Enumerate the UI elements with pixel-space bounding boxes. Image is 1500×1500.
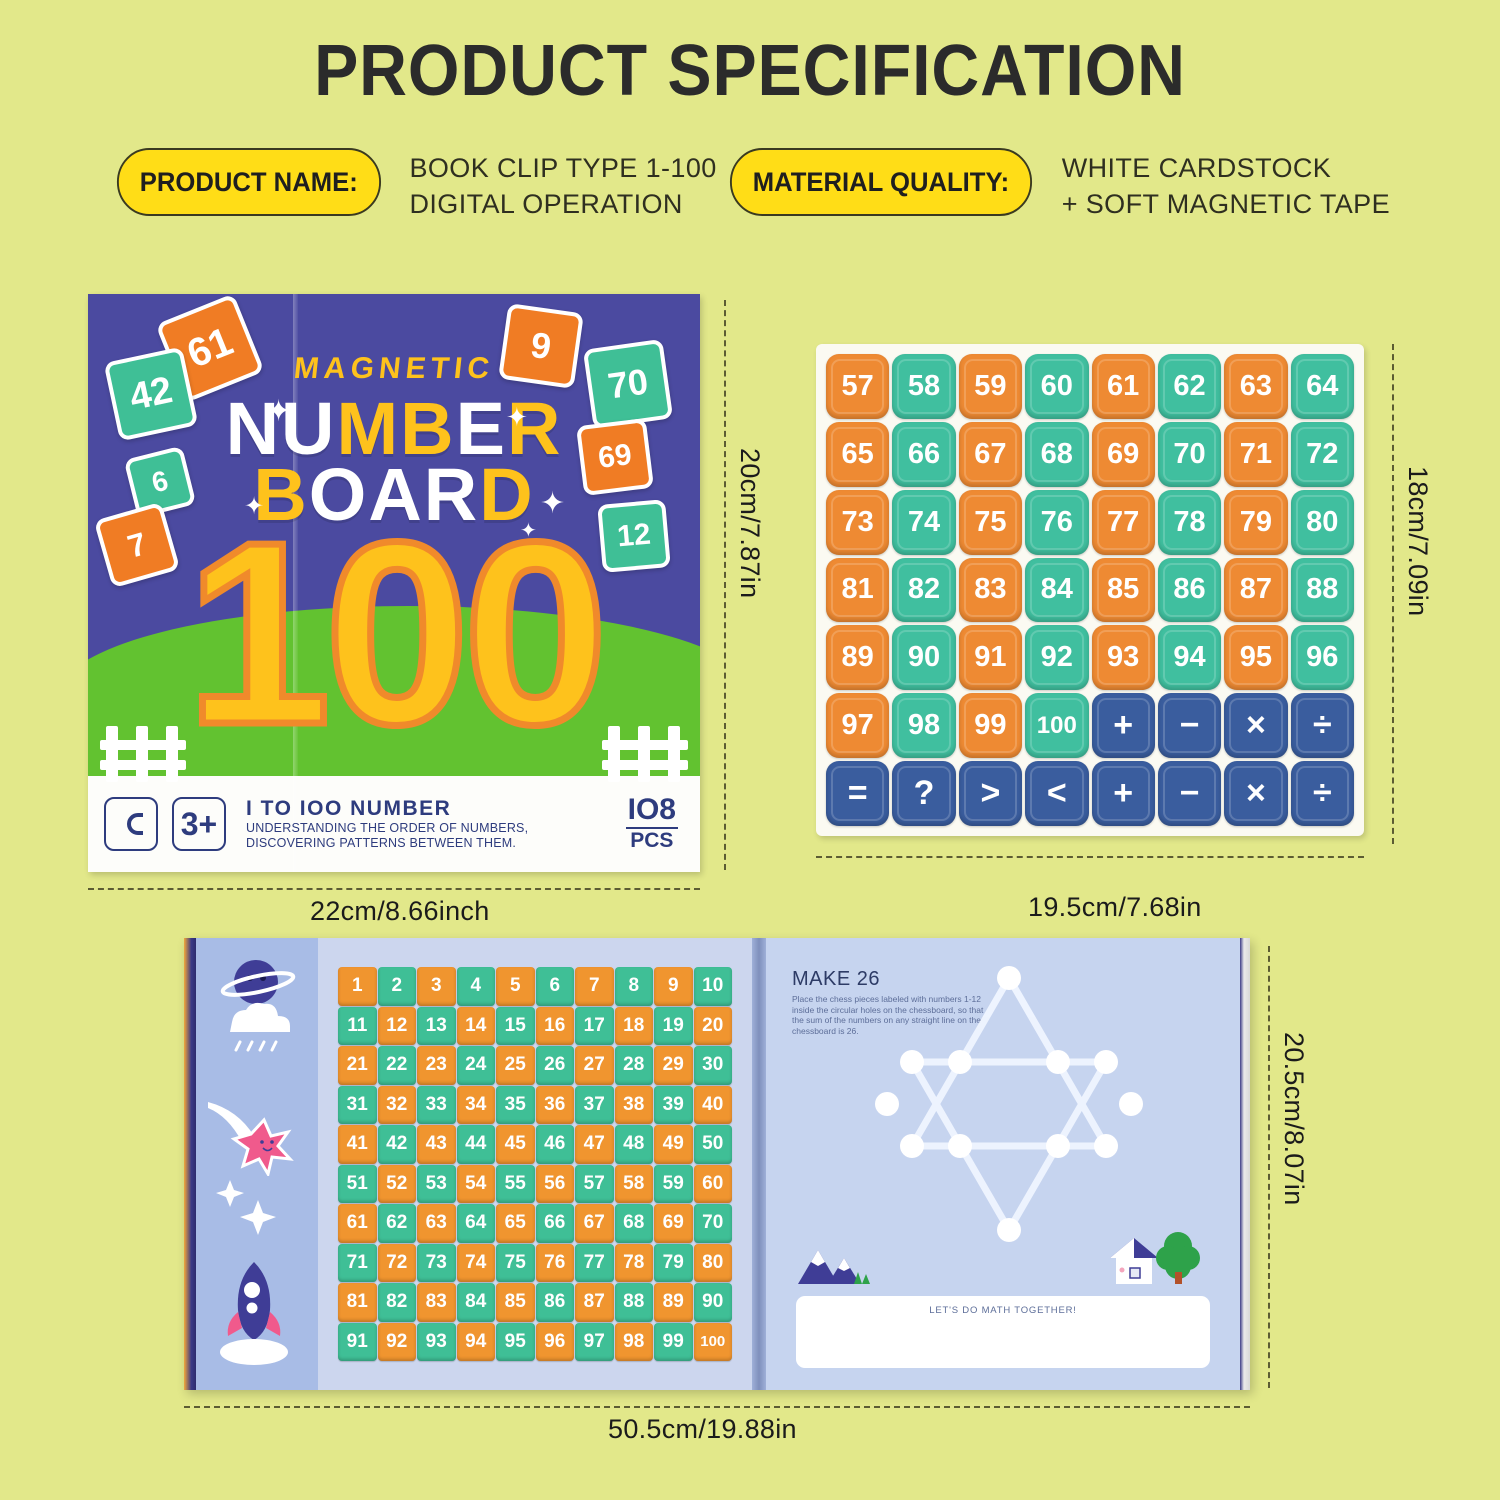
grid-tile-13[interactable]: 13 — [417, 1007, 456, 1046]
dim-guide-board-bottom — [816, 856, 1364, 858]
grid-tile-22[interactable]: 22 — [378, 1046, 417, 1085]
grid-tile-45[interactable]: 45 — [496, 1125, 535, 1164]
grid-tile-86[interactable]: 86 — [536, 1283, 575, 1322]
board-tile-÷[interactable]: ÷ — [1291, 761, 1354, 826]
grid-tile-78[interactable]: 78 — [615, 1244, 654, 1283]
board-tile-×[interactable]: × — [1224, 693, 1287, 758]
material-line1: WHITE CARDSTOCK — [1062, 150, 1390, 186]
grid-tile-3[interactable]: 3 — [417, 967, 456, 1006]
grid-tile-99[interactable]: 99 — [654, 1323, 693, 1362]
grid-tile-42[interactable]: 42 — [378, 1125, 417, 1164]
cover-tile-70: 70 — [583, 339, 673, 429]
product-name-line1: BOOK CLIP TYPE 1-100 — [410, 150, 717, 186]
board-tile-66[interactable]: 66 — [892, 422, 955, 487]
box-height-label: 20cm/7.87in — [734, 448, 765, 598]
board-tile-97[interactable]: 97 — [826, 693, 889, 758]
grid-tile-73[interactable]: 73 — [417, 1244, 456, 1283]
grid-tile-82[interactable]: 82 — [378, 1283, 417, 1322]
grid-tile-23[interactable]: 23 — [417, 1046, 456, 1085]
book-spine — [184, 938, 196, 1390]
board-tile-73[interactable]: 73 — [826, 490, 889, 555]
grid-tile-21[interactable]: 21 — [338, 1046, 377, 1085]
grid-tile-32[interactable]: 32 — [378, 1086, 417, 1125]
grid-tile-49[interactable]: 49 — [654, 1125, 693, 1164]
board-tile-+[interactable]: + — [1092, 693, 1155, 758]
grid-tile-15[interactable]: 15 — [496, 1007, 535, 1046]
board-tile-69[interactable]: 69 — [1092, 422, 1155, 487]
grid-tile-8[interactable]: 8 — [615, 967, 654, 1006]
grid-tile-85[interactable]: 85 — [496, 1283, 535, 1322]
grid-tile-17[interactable]: 17 — [575, 1007, 614, 1046]
grid-tile-16[interactable]: 16 — [536, 1007, 575, 1046]
board-tile-85[interactable]: 85 — [1092, 558, 1155, 623]
dim-guide-box-bottom — [88, 888, 700, 890]
star-icon — [214, 1176, 284, 1236]
board-tile-70[interactable]: 70 — [1158, 422, 1221, 487]
grid-tile-26[interactable]: 26 — [536, 1046, 575, 1085]
spec-material-quality: MATERIAL QUALITY: WHITE CARDSTOCK + SOFT… — [722, 148, 1390, 222]
grid-tile-7[interactable]: 7 — [575, 967, 614, 1006]
cover-tile-69: 69 — [576, 418, 654, 496]
board-tile-−[interactable]: − — [1158, 761, 1221, 826]
grid-tile-9[interactable]: 9 — [654, 967, 693, 1006]
material-quality-pill: MATERIAL QUALITY: — [730, 148, 1032, 216]
board-tile-95[interactable]: 95 — [1224, 625, 1287, 690]
grid-tile-69[interactable]: 69 — [654, 1204, 693, 1243]
grid-tile-53[interactable]: 53 — [417, 1165, 456, 1204]
grid-tile-93[interactable]: 93 — [417, 1323, 456, 1362]
grid-tile-46[interactable]: 46 — [536, 1125, 575, 1164]
grid-tile-97[interactable]: 97 — [575, 1323, 614, 1362]
board-tile-76[interactable]: 76 — [1025, 490, 1088, 555]
tree-icon — [1156, 1232, 1200, 1284]
book-left-page: 1234567891011121314151617181920212223242… — [196, 938, 752, 1390]
open-book-spread: 1234567891011121314151617181920212223242… — [184, 938, 1250, 1390]
grid-tile-11[interactable]: 11 — [338, 1007, 377, 1046]
grid-tile-37[interactable]: 37 — [575, 1086, 614, 1125]
grid-tile-48[interactable]: 48 — [615, 1125, 654, 1164]
grid-tile-77[interactable]: 77 — [575, 1244, 614, 1283]
grid-tile-43[interactable]: 43 — [417, 1125, 456, 1164]
mountain-icon — [794, 1240, 872, 1288]
product-name-pill: PRODUCT NAME: — [117, 148, 381, 216]
grid-tile-88[interactable]: 88 — [615, 1283, 654, 1322]
board-tile-86[interactable]: 86 — [1158, 558, 1221, 623]
book-right-edge — [1240, 938, 1250, 1390]
grid-tile-35[interactable]: 35 — [496, 1086, 535, 1125]
grid-tile-83[interactable]: 83 — [417, 1283, 456, 1322]
grid-tile-12[interactable]: 12 — [378, 1007, 417, 1046]
board-tile-78[interactable]: 78 — [1158, 490, 1221, 555]
grid-tile-72[interactable]: 72 — [378, 1244, 417, 1283]
board-tile-80[interactable]: 80 — [1291, 490, 1354, 555]
book-right-page: MAKE 26 Place the chess pieces labeled w… — [766, 938, 1240, 1390]
board-tile-−[interactable]: − — [1158, 693, 1221, 758]
product-box-cover: MAGNETIC NUMBER BOARD ✦ ✦ ✦ ✦ ✦ 100 61 4… — [88, 294, 700, 872]
board-tile-67[interactable]: 67 — [959, 422, 1022, 487]
grid-tile-54[interactable]: 54 — [457, 1165, 496, 1204]
board-tile-57[interactable]: 57 — [826, 354, 889, 419]
grid-tile-52[interactable]: 52 — [378, 1165, 417, 1204]
decoration-column — [196, 938, 318, 1390]
grid-tile-55[interactable]: 55 — [496, 1165, 535, 1204]
grid-tile-91[interactable]: 91 — [338, 1323, 377, 1362]
board-tile-91[interactable]: 91 — [959, 625, 1022, 690]
grid-tile-38[interactable]: 38 — [615, 1086, 654, 1125]
piece-count-number: IO8 — [626, 795, 678, 829]
grid-tile-36[interactable]: 36 — [536, 1086, 575, 1125]
age-badge: 3+ — [172, 797, 226, 851]
grid-tile-79[interactable]: 79 — [654, 1244, 693, 1283]
grid-tile-33[interactable]: 33 — [417, 1086, 456, 1125]
cover-desc-line2: DISCOVERING PATTERNS BETWEEN THEM. — [246, 836, 612, 851]
board-width-label: 19.5cm/7.68in — [1028, 892, 1202, 923]
grid-tile-67[interactable]: 67 — [575, 1204, 614, 1243]
grid-tile-96[interactable]: 96 — [536, 1323, 575, 1362]
grid-tile-31[interactable]: 31 — [338, 1086, 377, 1125]
board-tile-84[interactable]: 84 — [1025, 558, 1088, 623]
grid-tile-98[interactable]: 98 — [615, 1323, 654, 1362]
grid-tile-18[interactable]: 18 — [615, 1007, 654, 1046]
house-icon — [1102, 1226, 1206, 1288]
board-tile-92[interactable]: 92 — [1025, 625, 1088, 690]
grid-tile-27[interactable]: 27 — [575, 1046, 614, 1085]
spec-product-name: PRODUCT NAME: BOOK CLIP TYPE 1-100 DIGIT… — [110, 148, 722, 222]
grid-tile-66[interactable]: 66 — [536, 1204, 575, 1243]
dim-guide-box-right — [724, 300, 726, 870]
book-width-label: 50.5cm/19.88in — [608, 1414, 797, 1445]
board-tile-77[interactable]: 77 — [1092, 490, 1155, 555]
material-line2: + SOFT MAGNETIC TAPE — [1062, 186, 1390, 222]
board-tile-60[interactable]: 60 — [1025, 354, 1088, 419]
board-tile-=[interactable]: = — [826, 761, 889, 826]
hundred-number-grid: 1234567891011121314151617181920212223242… — [335, 964, 735, 1364]
grid-tile-34[interactable]: 34 — [457, 1086, 496, 1125]
grid-tile-40[interactable]: 40 — [694, 1086, 733, 1125]
board-tile-88[interactable]: 88 — [1291, 558, 1354, 623]
board-tile-99[interactable]: 99 — [959, 693, 1022, 758]
board-tile-81[interactable]: 81 — [826, 558, 889, 623]
grid-tile-4[interactable]: 4 — [457, 967, 496, 1006]
box-width-label: 22cm/8.66inch — [310, 896, 490, 927]
board-tile->[interactable]: > — [959, 761, 1022, 826]
piece-count-badge: IO8 PCS — [626, 795, 684, 853]
grid-tile-74[interactable]: 74 — [457, 1244, 496, 1283]
grid-tile-24[interactable]: 24 — [457, 1046, 496, 1085]
board-tile-83[interactable]: 83 — [959, 558, 1022, 623]
grid-tile-76[interactable]: 76 — [536, 1244, 575, 1283]
page-title: PRODUCT SPECIFICATION — [60, 0, 1440, 112]
grid-tile-61[interactable]: 61 — [338, 1204, 377, 1243]
grid-tile-58[interactable]: 58 — [615, 1165, 654, 1204]
grid-tile-84[interactable]: 84 — [457, 1283, 496, 1322]
board-tile-82[interactable]: 82 — [892, 558, 955, 623]
grid-tile-25[interactable]: 25 — [496, 1046, 535, 1085]
board-height-label: 18cm/7.09in — [1402, 466, 1433, 616]
board-tile-72[interactable]: 72 — [1291, 422, 1354, 487]
grid-tile-65[interactable]: 65 — [496, 1204, 535, 1243]
grid-tile-20[interactable]: 20 — [694, 1007, 733, 1046]
grid-tile-100[interactable]: 100 — [694, 1323, 733, 1362]
grid-tile-87[interactable]: 87 — [575, 1283, 614, 1322]
board-tile-62[interactable]: 62 — [1158, 354, 1221, 419]
grid-tile-6[interactable]: 6 — [536, 967, 575, 1006]
board-tile-89[interactable]: 89 — [826, 625, 889, 690]
grid-tile-19[interactable]: 19 — [654, 1007, 693, 1046]
grid-tile-10[interactable]: 10 — [694, 967, 733, 1006]
grid-tile-44[interactable]: 44 — [457, 1125, 496, 1164]
grid-tile-92[interactable]: 92 — [378, 1323, 417, 1362]
dim-guide-book-right — [1268, 946, 1270, 1388]
grid-tile-47[interactable]: 47 — [575, 1125, 614, 1164]
grid-tile-75[interactable]: 75 — [496, 1244, 535, 1283]
grid-tile-60[interactable]: 60 — [694, 1165, 733, 1204]
board-tile-×[interactable]: × — [1224, 761, 1287, 826]
spec-row: PRODUCT NAME: BOOK CLIP TYPE 1-100 DIGIT… — [0, 148, 1500, 222]
grid-tile-51[interactable]: 51 — [338, 1165, 377, 1204]
grid-tile-29[interactable]: 29 — [654, 1046, 693, 1085]
book-height-label: 20.5cm/8.07in — [1278, 1032, 1309, 1206]
hexagram-star-diagram — [844, 960, 1174, 1260]
board-tile-98[interactable]: 98 — [892, 693, 955, 758]
magnetic-tile-board: 5758596061626364656667686970717273747576… — [816, 344, 1364, 836]
grid-tile-62[interactable]: 62 — [378, 1204, 417, 1243]
board-tile-58[interactable]: 58 — [892, 354, 955, 419]
grid-tile-30[interactable]: 30 — [694, 1046, 733, 1085]
grid-tile-94[interactable]: 94 — [457, 1323, 496, 1362]
grid-tile-68[interactable]: 68 — [615, 1204, 654, 1243]
grid-tile-1[interactable]: 1 — [338, 967, 377, 1006]
grid-tile-81[interactable]: 81 — [338, 1283, 377, 1322]
grid-tile-89[interactable]: 89 — [654, 1283, 693, 1322]
grid-tile-57[interactable]: 57 — [575, 1165, 614, 1204]
rain-cloud-icon — [218, 996, 304, 1056]
board-tile-63[interactable]: 63 — [1224, 354, 1287, 419]
cover-footer: 3+ I TO IOO NUMBER UNDERSTANDING THE ORD… — [88, 776, 700, 872]
board-tile-96[interactable]: 96 — [1291, 625, 1354, 690]
board-tile-61[interactable]: 61 — [1092, 354, 1155, 419]
cover-tile-12: 12 — [597, 499, 671, 573]
dim-guide-board-right — [1392, 344, 1394, 844]
board-tile-79[interactable]: 79 — [1224, 490, 1287, 555]
hundred-grid-wrapper: 1234567891011121314151617181920212223242… — [318, 938, 752, 1390]
grid-tile-70[interactable]: 70 — [694, 1204, 733, 1243]
board-tile-64[interactable]: 64 — [1291, 354, 1354, 419]
grid-tile-71[interactable]: 71 — [338, 1244, 377, 1283]
rocket-icon — [208, 1256, 304, 1366]
product-name-line2: DIGITAL OPERATION — [410, 186, 717, 222]
dim-guide-book-bottom — [184, 1406, 1250, 1408]
cover-desc-title: I TO IOO NUMBER — [246, 797, 612, 821]
sparkle-icon: ✦ — [266, 394, 291, 429]
answer-input-area[interactable]: LET'S DO MATH TOGETHER! — [796, 1296, 1210, 1368]
book-center-gutter — [752, 938, 766, 1390]
grid-tile-63[interactable]: 63 — [417, 1204, 456, 1243]
grid-tile-64[interactable]: 64 — [457, 1204, 496, 1243]
cover-tile-9: 9 — [498, 303, 584, 389]
cover-desc-line1: UNDERSTANDING THE ORDER OF NUMBERS, — [246, 821, 612, 836]
board-tile-94[interactable]: 94 — [1158, 625, 1221, 690]
board-tile-71[interactable]: 71 — [1224, 422, 1287, 487]
board-tile-100[interactable]: 100 — [1025, 693, 1088, 758]
board-tile-÷[interactable]: ÷ — [1291, 693, 1354, 758]
answer-prompt-label: LET'S DO MATH TOGETHER! — [929, 1305, 1076, 1368]
sparkle-icon: ✦ — [506, 402, 528, 433]
grid-tile-90[interactable]: 90 — [694, 1283, 733, 1322]
grid-tile-2[interactable]: 2 — [378, 967, 417, 1006]
board-tile-+[interactable]: + — [1092, 761, 1155, 826]
grid-tile-28[interactable]: 28 — [615, 1046, 654, 1085]
grid-tile-14[interactable]: 14 — [457, 1007, 496, 1046]
product-name-value: BOOK CLIP TYPE 1-100 DIGITAL OPERATION — [410, 148, 717, 222]
board-tile-?[interactable]: ? — [892, 761, 955, 826]
grid-tile-56[interactable]: 56 — [536, 1165, 575, 1204]
board-tile-68[interactable]: 68 — [1025, 422, 1088, 487]
grid-tile-41[interactable]: 41 — [338, 1125, 377, 1164]
material-quality-value: WHITE CARDSTOCK + SOFT MAGNETIC TAPE — [1062, 148, 1390, 222]
board-tile-93[interactable]: 93 — [1092, 625, 1155, 690]
grid-tile-80[interactable]: 80 — [694, 1244, 733, 1283]
board-tile-<[interactable]: < — [1025, 761, 1088, 826]
grid-tile-39[interactable]: 39 — [654, 1086, 693, 1125]
board-tile-90[interactable]: 90 — [892, 625, 955, 690]
cover-description: I TO IOO NUMBER UNDERSTANDING THE ORDER … — [240, 797, 612, 851]
grid-tile-50[interactable]: 50 — [694, 1125, 733, 1164]
board-tile-74[interactable]: 74 — [892, 490, 955, 555]
board-tile-75[interactable]: 75 — [959, 490, 1022, 555]
piece-count-unit: PCS — [626, 829, 678, 853]
shooting-star-icon — [206, 1096, 306, 1176]
board-tile-87[interactable]: 87 — [1224, 558, 1287, 623]
board-tile-59[interactable]: 59 — [959, 354, 1022, 419]
grid-tile-59[interactable]: 59 — [654, 1165, 693, 1204]
magnet-icon — [104, 797, 158, 851]
grid-tile-95[interactable]: 95 — [496, 1323, 535, 1362]
cover-tile-42: 42 — [104, 347, 199, 442]
grid-tile-5[interactable]: 5 — [496, 967, 535, 1006]
board-tile-65[interactable]: 65 — [826, 422, 889, 487]
